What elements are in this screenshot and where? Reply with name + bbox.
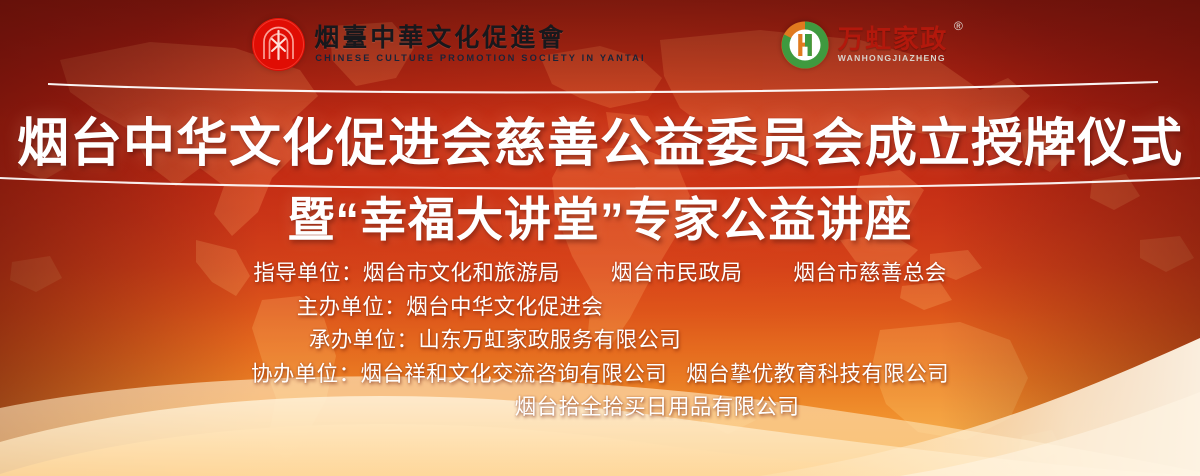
credit-line-organizer: 主办单位：烟台中华文化促进会 [297,292,604,323]
credit-line-coorganizers: 协办单位：烟台祥和文化交流咨询有限公司 烟台挚优教育科技有限公司 [251,359,949,390]
logo-chinese-culture-promotion-society: 烟臺中華文化促進會 CHINESE CULTURE PROMOTION SOCI… [252,18,646,71]
credit-line-host: 承办单位：山东万虹家政服务有限公司 [309,325,681,356]
registered-trademark-icon: ® [954,20,963,32]
ccps-wordmark: 烟臺中華文化促進會 CHINESE CULTURE PROMOTION SOCI… [314,26,646,64]
banner-main-title: 烟台中华文化促进会慈善公益委员会成立授牌仪式 [0,118,1200,170]
credits-block: 指导单位：烟台市文化和旅游局 烟台市民政局 烟台市慈善总会 主办单位：烟台中华文… [0,258,1200,423]
wanhong-emblem-icon [781,21,829,69]
wanhong-name-en: WANHONGJIAZHENG [838,54,948,63]
ccps-name-cn: 烟臺中華文化促進會 [314,26,646,52]
wanhong-wordmark: 万虹家政 WANHONGJIAZHENG ® [838,26,948,63]
ccps-emblem-icon [252,18,305,71]
wanhong-name-cn: 万虹家政 [838,26,948,53]
logo-wanhong-jiazheng: 万虹家政 WANHONGJIAZHENG ® [781,21,948,69]
logo-row: 烟臺中華文化促進會 CHINESE CULTURE PROMOTION SOCI… [0,18,1200,71]
credit-line-guidance: 指导单位：烟台市文化和旅游局 烟台市民政局 烟台市慈善总会 [253,258,946,289]
event-banner: 烟臺中華文化促進會 CHINESE CULTURE PROMOTION SOCI… [0,0,1200,476]
banner-subtitle: 暨“幸福大讲堂”专家公益讲座 [0,196,1200,243]
credit-line-coorganizers-cont: 烟台拾全拾买日用品有限公司 [399,392,800,423]
ccps-name-en: CHINESE CULTURE PROMOTION SOCIETY IN YAN… [314,54,646,63]
